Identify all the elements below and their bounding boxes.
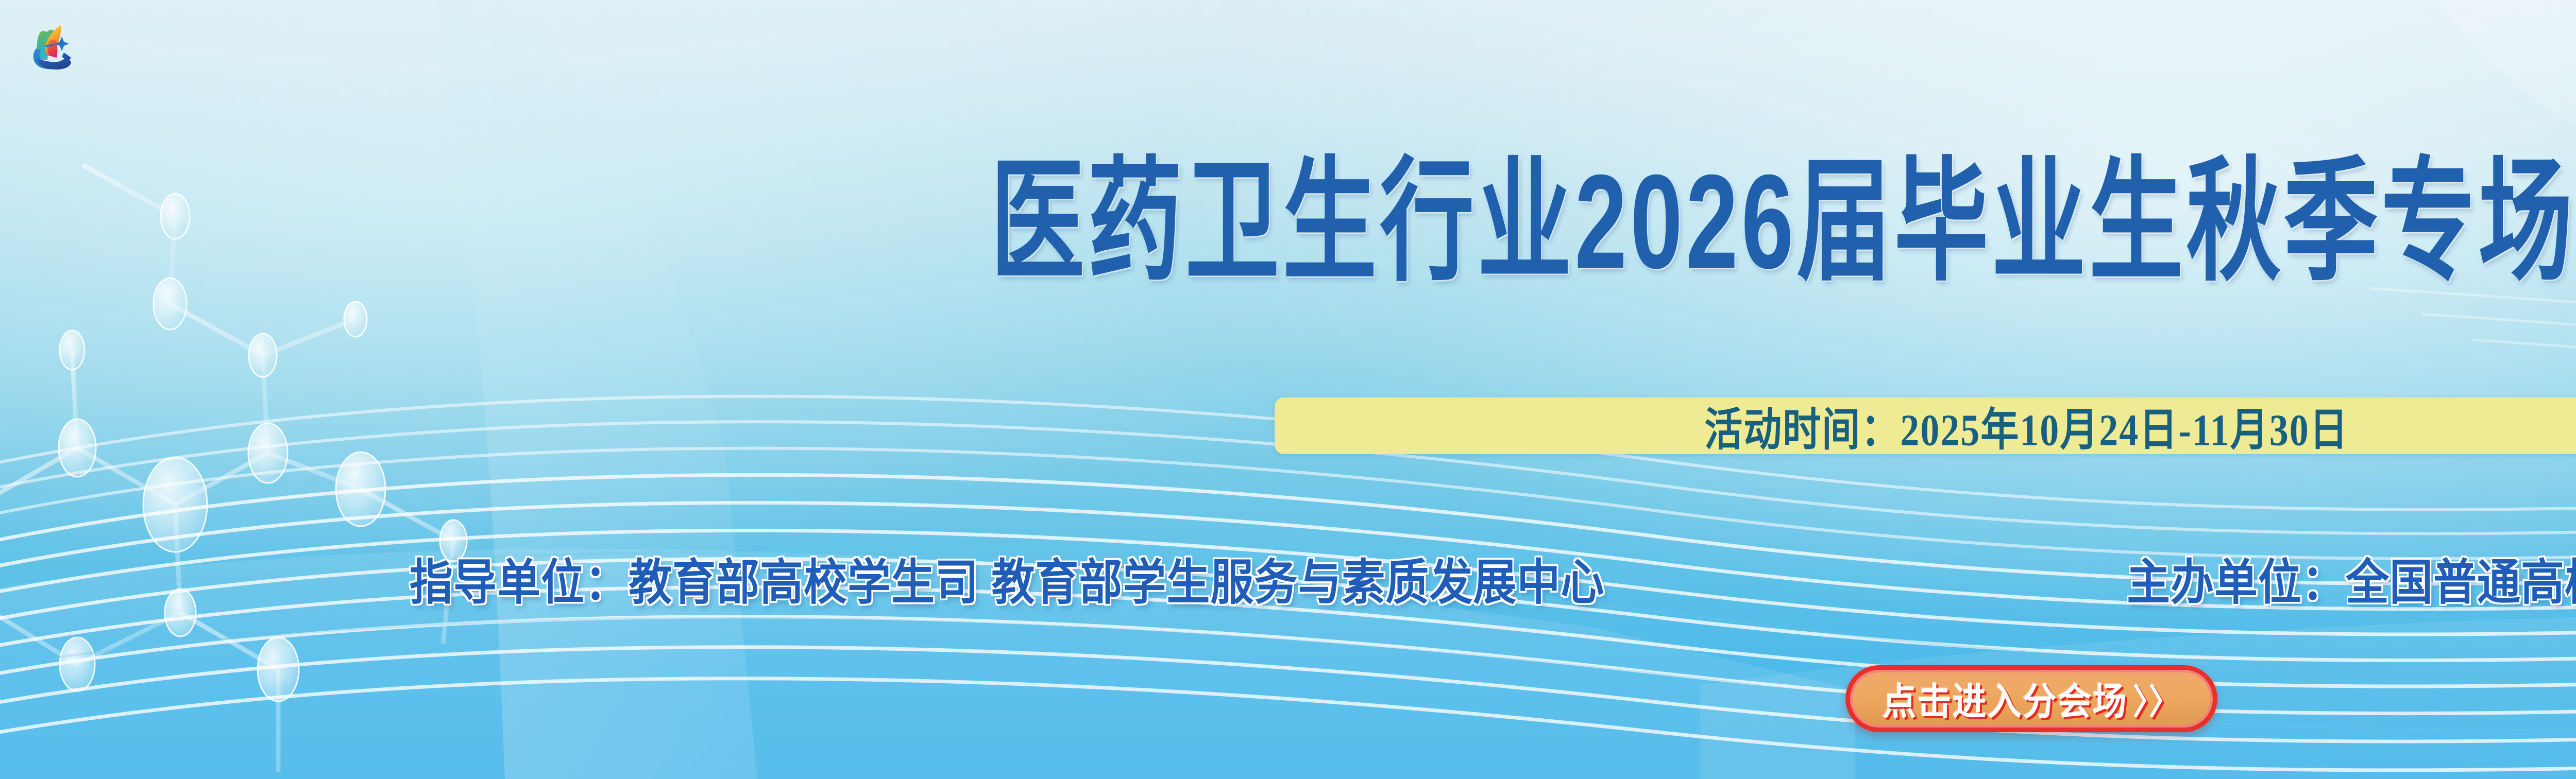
dna-helix-layer — [0, 0, 2576, 779]
enter-sub-venue-button[interactable]: 点击进入分会场 〉〉 — [1845, 665, 2217, 732]
event-date-text: 活动时间：2025年10月24日-11月30日 — [1704, 393, 2349, 458]
swoosh-sheets-layer — [0, 0, 2576, 779]
guidance-unit-text: 指导单位：教育部高校学生司 教育部学生服务与素质发展中心 — [410, 544, 1604, 614]
organization-logo — [10, 4, 98, 81]
cta-label: 点击进入分会场 — [1882, 671, 2127, 726]
wave-lines-layer — [0, 0, 2576, 779]
molecule-lattice-bottom-left — [0, 0, 2576, 779]
event-date-badge: 活动时间：2025年10月24日-11月30日 — [1275, 397, 2576, 454]
cta-inner-surface[interactable]: 点击进入分会场 〉〉 — [1850, 670, 2213, 728]
molecule-lattice-top-right — [0, 0, 2576, 779]
recruitment-banner: 医药卫生行业2026届毕业生秋季专场线上招聘会 活动时间：2025年10月24日… — [0, 0, 2576, 779]
host-unit-text: 主办单位：全国普通高校毕业生医药卫生行业就业创业指导委员会 — [2127, 544, 2576, 614]
background-glow-top — [1135, 0, 2576, 631]
page-title: 医药卫生行业2026届毕业生秋季专场线上招聘会 — [0, 154, 2576, 288]
double-chevron-right-icon: 〉〉 — [2132, 673, 2180, 724]
